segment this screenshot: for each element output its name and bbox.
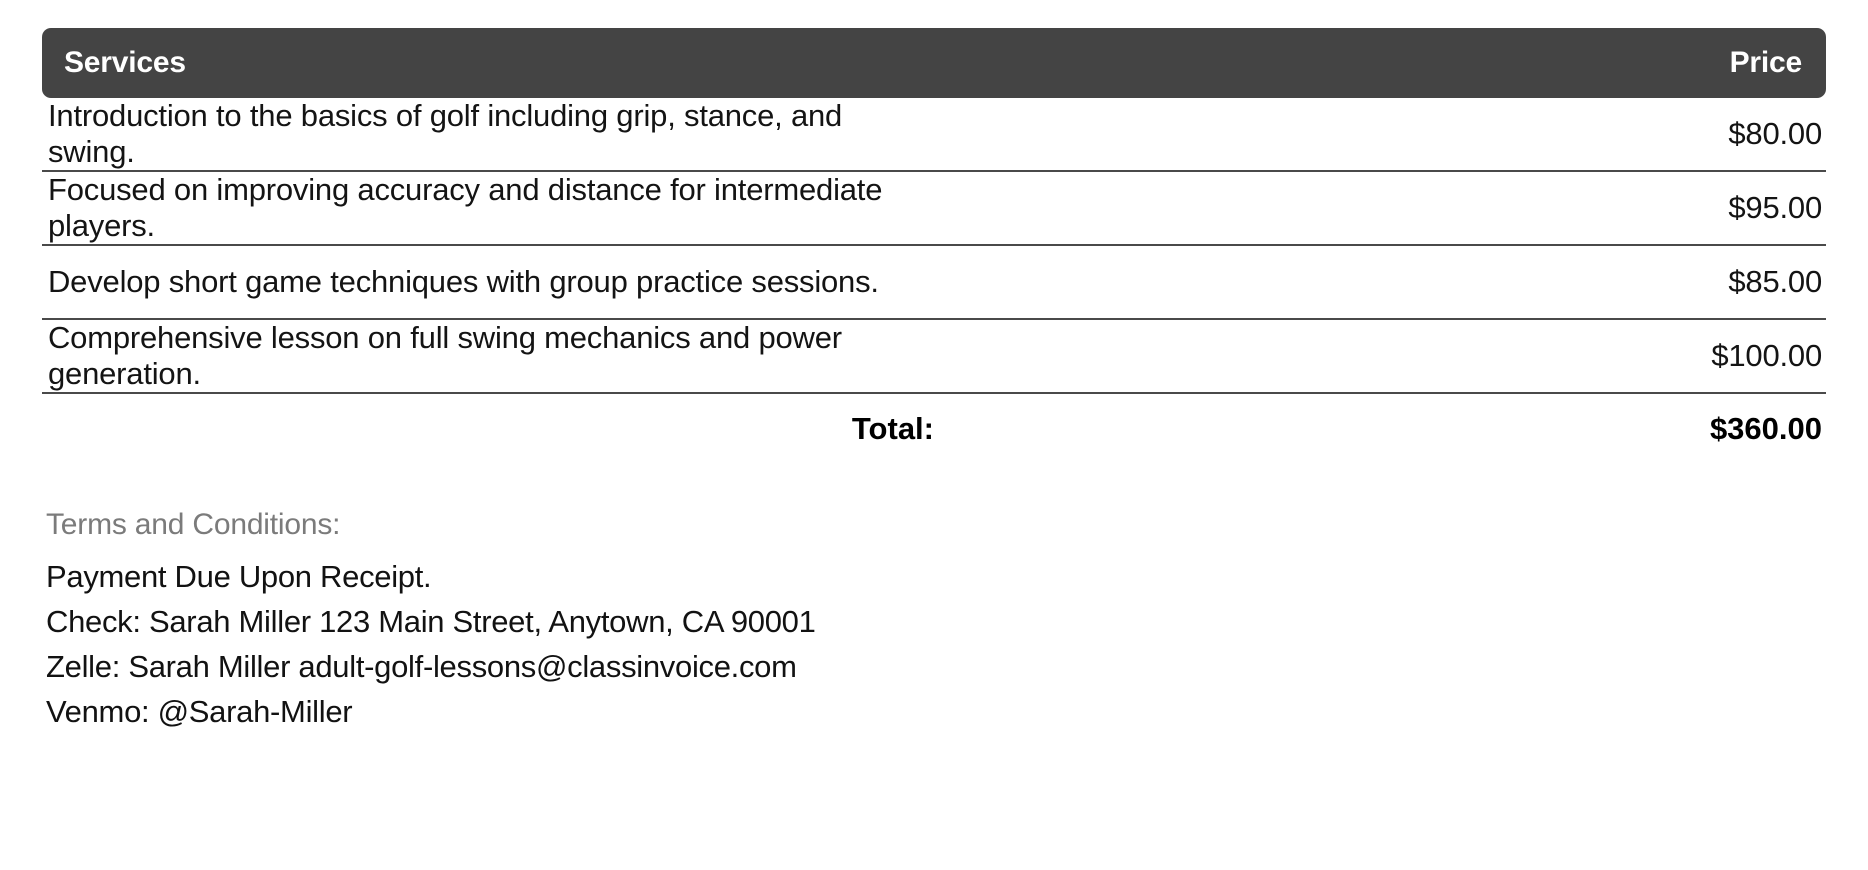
table-row: Focused on improving accuracy and distan… bbox=[42, 171, 1826, 245]
invoice-services-page: Services Price Introduction to the basic… bbox=[0, 0, 1868, 870]
service-price: $85.00 bbox=[934, 245, 1826, 319]
service-price: $95.00 bbox=[934, 171, 1826, 245]
table-row: Develop short game techniques with group… bbox=[42, 245, 1826, 319]
table-row: Introduction to the basics of golf inclu… bbox=[42, 98, 1826, 171]
service-price: $80.00 bbox=[934, 98, 1826, 171]
terms-line-check: Check: Sarah Miller 123 Main Street, Any… bbox=[42, 599, 1826, 644]
terms-line-zelle: Zelle: Sarah Miller adult-golf-lessons@c… bbox=[42, 644, 1826, 689]
terms-line-venmo: Venmo: @Sarah-Miller bbox=[42, 689, 1826, 734]
terms-heading: Terms and Conditions: bbox=[42, 508, 1826, 542]
table-total-row: Total: $360.00 bbox=[42, 393, 1826, 464]
table-row: Comprehensive lesson on full swing mecha… bbox=[42, 319, 1826, 393]
table-header-row: Services Price bbox=[42, 28, 1826, 98]
column-header-services: Services bbox=[42, 28, 934, 98]
service-price: $100.00 bbox=[934, 319, 1826, 393]
table-header: Services Price bbox=[42, 28, 1826, 98]
total-label: Total: bbox=[42, 393, 934, 464]
service-description: Introduction to the basics of golf inclu… bbox=[42, 98, 934, 171]
total-value: $360.00 bbox=[934, 393, 1826, 464]
column-header-price: Price bbox=[934, 28, 1826, 98]
terms-line-payment-due: Payment Due Upon Receipt. bbox=[42, 554, 1826, 599]
terms-and-conditions-section: Terms and Conditions: Payment Due Upon R… bbox=[42, 508, 1826, 734]
table-body: Introduction to the basics of golf inclu… bbox=[42, 98, 1826, 464]
service-description: Focused on improving accuracy and distan… bbox=[42, 171, 934, 245]
service-description: Develop short game techniques with group… bbox=[42, 245, 934, 319]
services-price-table: Services Price Introduction to the basic… bbox=[42, 28, 1826, 464]
service-description: Comprehensive lesson on full swing mecha… bbox=[42, 319, 934, 393]
